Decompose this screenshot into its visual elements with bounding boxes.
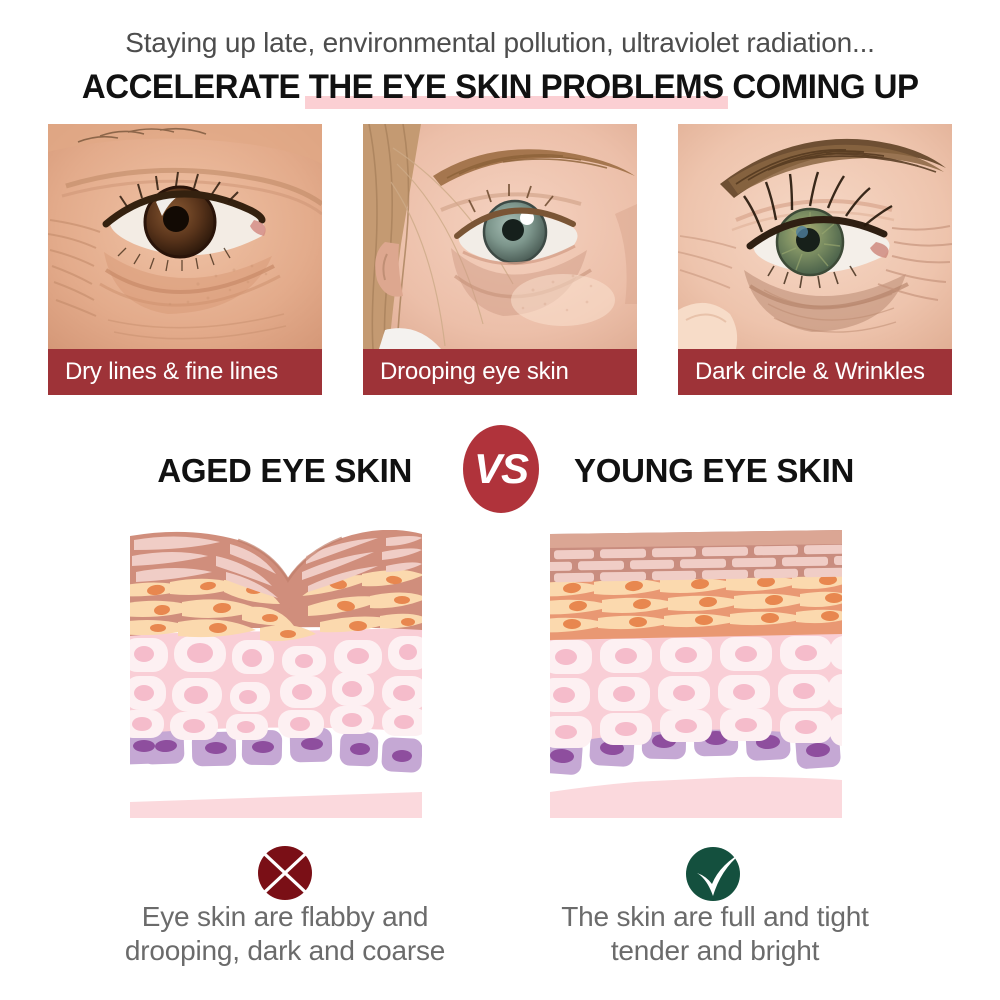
headline-pre: ACCELERATE (82, 68, 309, 106)
problem-panel-dry-lines[interactable]: Dry lines & fine lines (48, 124, 322, 395)
panel-caption: Dark circle & Wrinkles (678, 349, 952, 395)
verdict-line-1: The skin are full and tight (505, 900, 925, 934)
headline-highlight-box: THE EYE SKIN PROBLEMS (308, 68, 723, 107)
eye-photo-drooping (363, 124, 637, 349)
poster-root: Staying up late, environmental pollution… (0, 0, 1000, 1000)
verdict-line-1: Eye skin are flabby and (75, 900, 495, 934)
young-eye-skin-title: YOUNG EYE SKIN (560, 452, 1000, 490)
aged-skin-diagram (130, 530, 422, 818)
check-circle-icon (680, 838, 750, 908)
problem-panel-drooping[interactable]: Drooping eye skin (363, 124, 637, 395)
vs-badge: VS (463, 425, 539, 513)
verdict-line-2: drooping, dark and coarse (75, 934, 495, 968)
poster-subtitle: Staying up late, environmental pollution… (0, 27, 1000, 59)
panel-caption: Drooping eye skin (363, 349, 637, 395)
poster-headline: ACCELERATE THE EYE SKIN PROBLEMS COMING … (0, 68, 1000, 110)
cross-circle-icon (250, 838, 320, 908)
aged-eye-skin-title: AGED EYE SKIN (0, 452, 440, 490)
eye-photo-dark-circle (678, 124, 952, 349)
problem-panel-dark-circle[interactable]: Dark circle & Wrinkles (678, 124, 952, 395)
young-skin-diagram (550, 530, 842, 818)
headline-highlight: THE EYE SKIN PROBLEMS (308, 68, 723, 106)
verdict-line-2: tender and bright (505, 934, 925, 968)
panel-caption: Dry lines & fine lines (48, 349, 322, 395)
headline-post: COMING UP (723, 68, 918, 106)
verdict-caption-young: The skin are full and tight tender and b… (505, 900, 925, 968)
eye-photo-dry-lines (48, 124, 322, 349)
verdict-caption-aged: Eye skin are flabby and drooping, dark a… (75, 900, 495, 968)
